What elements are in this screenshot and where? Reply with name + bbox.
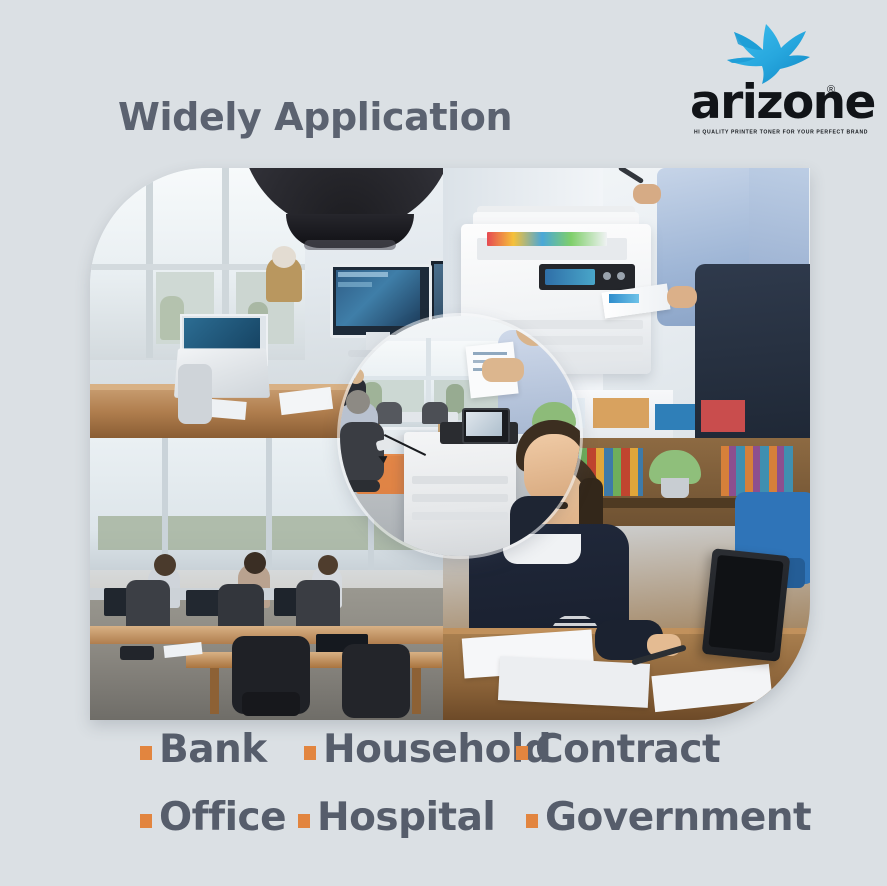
bullet-square-icon (298, 814, 310, 828)
bullet-square-icon (516, 746, 528, 760)
poster-canvas: arizone ® HI QUALITY PRINTER TONER FOR Y… (0, 0, 887, 886)
registered-mark: ® (827, 84, 835, 96)
bullet-square-icon (526, 814, 538, 828)
label-office: Office (140, 796, 298, 840)
label-text: Government (545, 796, 811, 840)
brand-logo: arizone ® HI QUALITY PRINTER TONER FOR Y… (690, 22, 850, 140)
label-text: Contract (535, 728, 720, 772)
collage-circle-inset (340, 316, 580, 556)
label-household: Household (304, 728, 516, 772)
label-text: Hospital (317, 796, 495, 840)
label-bank: Bank (140, 728, 304, 772)
label-row-2: Office Hospital Government (140, 796, 840, 864)
label-text: Office (159, 796, 286, 840)
bullet-square-icon (140, 746, 152, 760)
label-government: Government (514, 796, 811, 840)
bullet-square-icon (140, 814, 152, 828)
brand-tagline: HI QUALITY PRINTER TONER FOR YOUR PERFEC… (694, 129, 846, 136)
label-row-1: Bank Household Contract (140, 728, 840, 796)
application-label-grid: Bank Household Contract Office Hospital (140, 728, 840, 864)
bullet-square-icon (304, 746, 316, 760)
label-contract: Contract (516, 728, 720, 772)
brand-wordmark: arizone (690, 82, 842, 124)
page-title: Widely Application (118, 95, 512, 139)
label-text: Bank (159, 728, 267, 772)
label-hospital: Hospital (298, 796, 514, 840)
